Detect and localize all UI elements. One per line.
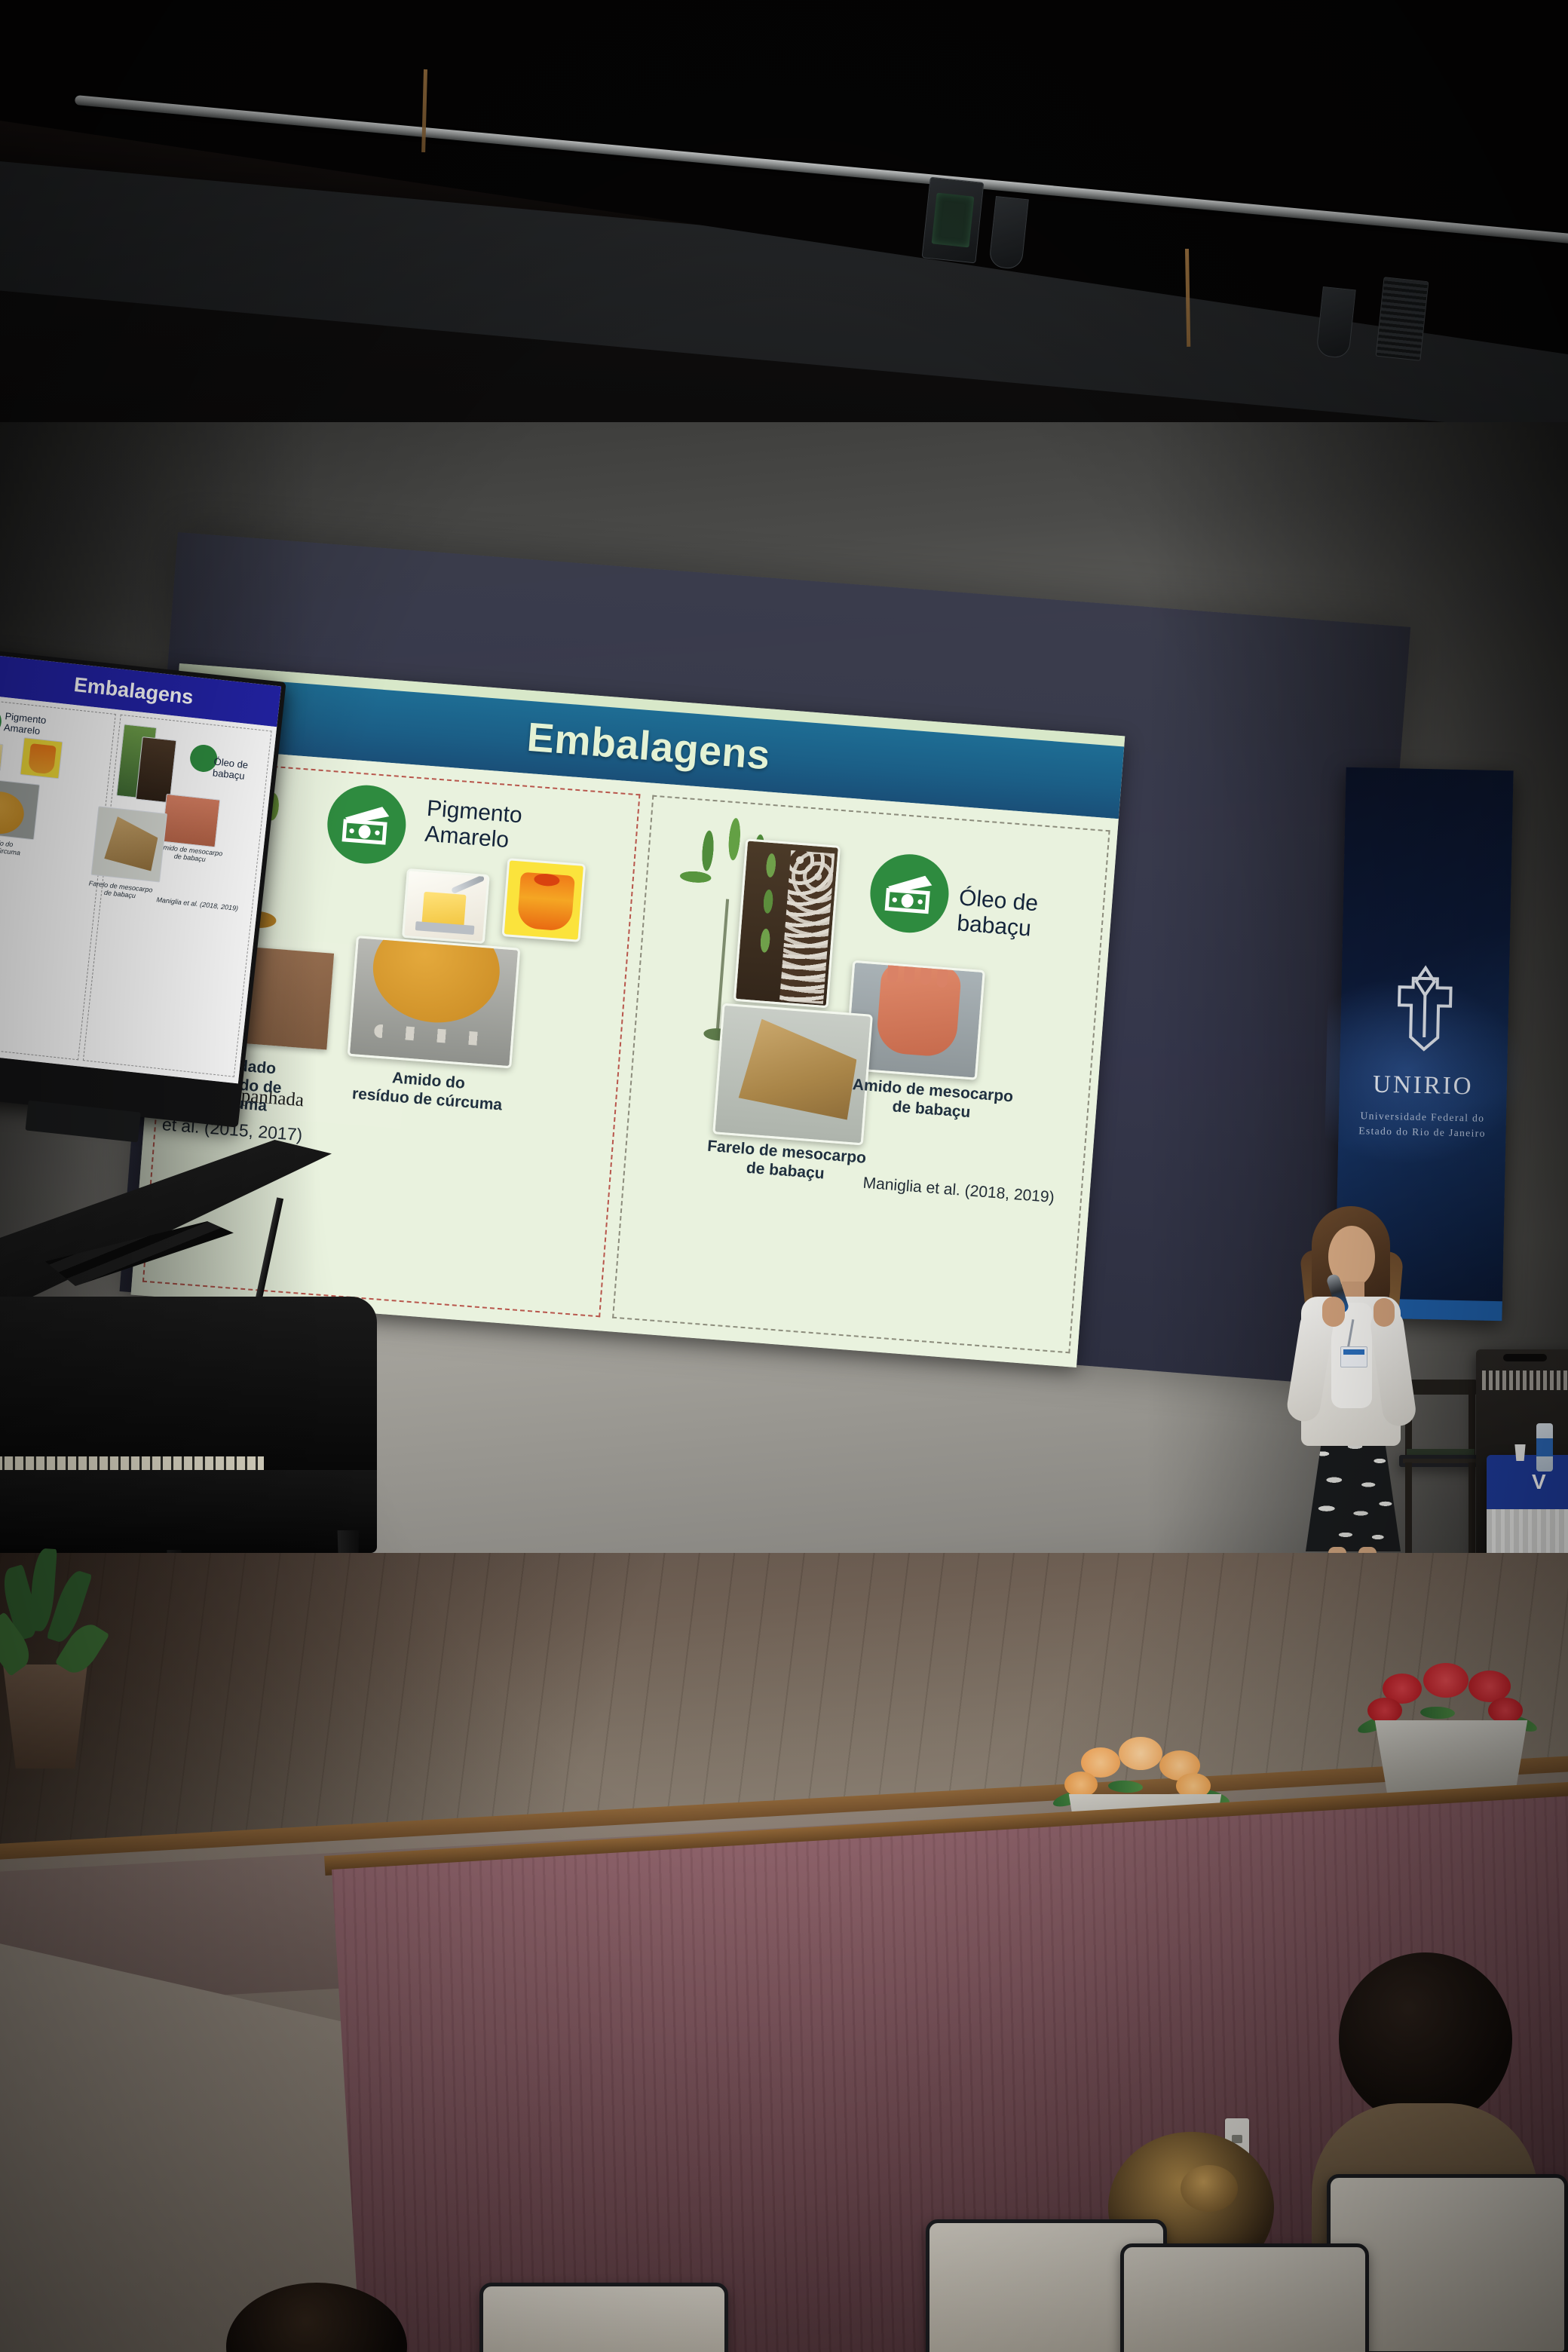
slide-right-panel: Óleo de babaçu Amido de mesocarpo de bab… xyxy=(612,795,1110,1354)
stage-light-lens xyxy=(931,193,974,248)
potted-plant-left xyxy=(0,1553,151,1772)
citation-right: Maniglia et al. (2018, 2019) xyxy=(862,1174,1055,1207)
money-banknote-icon-right xyxy=(868,851,952,936)
banknote-glyph-2 xyxy=(881,870,937,917)
pigmento-label: Pigmento Amarelo xyxy=(424,796,586,859)
audience-seat-4[interactable] xyxy=(479,2283,728,2352)
fern-frond-r3 xyxy=(1420,1706,1456,1720)
presenter-skirt xyxy=(1306,1432,1401,1551)
side-table-logo: V xyxy=(1532,1470,1547,1494)
amp-handle xyxy=(1503,1354,1547,1361)
slide-title: Embalagens xyxy=(525,714,772,779)
audience-seat-3[interactable] xyxy=(1120,2243,1369,2352)
piano-lid xyxy=(0,1140,332,1313)
orange-bloom-4 xyxy=(1064,1772,1098,1797)
red-bloom-2 xyxy=(1423,1663,1468,1698)
bottle-label xyxy=(1536,1438,1553,1456)
stage-light-barndoor xyxy=(1376,277,1429,361)
red-bloom-5 xyxy=(1488,1698,1523,1723)
water-bottle xyxy=(1536,1423,1553,1472)
audience-bun-2 xyxy=(1181,2165,1238,2212)
monitor-slide-title: Embalagens xyxy=(73,672,194,709)
banner-name: UNIRIO xyxy=(1339,1070,1507,1102)
babassu-fruit-cluster-photo xyxy=(733,838,841,1008)
oleo-label: Óleo de babaçu xyxy=(956,885,1103,947)
fern-frond-o3 xyxy=(1108,1780,1144,1793)
monitor-display: Embalagens Pigmento Amarelo Amid xyxy=(0,655,281,1084)
presenter-name-badge xyxy=(1340,1346,1367,1367)
monitor-oleo-label: Óleo de babaçu xyxy=(212,756,249,782)
presenter-hand-right xyxy=(1374,1298,1395,1327)
presenter xyxy=(1295,1206,1446,1598)
butter-pat-photo xyxy=(402,868,490,944)
confidence-monitor[interactable]: Embalagens Pigmento Amarelo Amid xyxy=(0,650,286,1128)
hanging-stage-light-1 xyxy=(922,177,985,264)
monitor-pudding-photo xyxy=(20,737,63,779)
monitor-fruit-photo xyxy=(136,737,177,803)
orange-bloom-2 xyxy=(1119,1737,1162,1770)
monitor-hand-photo xyxy=(161,794,220,847)
piano-keyboard xyxy=(0,1456,264,1472)
audience-person-3 xyxy=(226,2283,422,2352)
starch-disc-photo xyxy=(348,936,521,1068)
money-banknote-icon-left xyxy=(325,782,409,867)
plant-pot xyxy=(0,1664,98,1769)
monitor-starch-disc-photo xyxy=(0,776,40,840)
audience-head-3 xyxy=(226,2283,407,2352)
piano-keybed xyxy=(0,1470,377,1553)
auditorium-scene: Embalagens xyxy=(0,0,1568,2352)
piano-body xyxy=(0,1297,377,1478)
monitor-pigmento-label: Pigmento Amarelo xyxy=(3,711,47,738)
caption-amido-mesocarpo: Amido de mesocarpo de babaçu xyxy=(844,1075,1020,1126)
banknote-glyph xyxy=(338,801,394,848)
audience-head-1 xyxy=(1339,1952,1512,2126)
red-bloom-4 xyxy=(1367,1698,1402,1723)
orange-pudding-photo xyxy=(501,858,586,942)
monitor-slide-body: Pigmento Amarelo Amido do uo de cúrcuma xyxy=(0,695,277,1083)
amp-grille xyxy=(1482,1370,1568,1390)
banner-subtitle: Universidade Federal do Estado do Rio de… xyxy=(1338,1108,1506,1142)
unirio-trident-logo-icon xyxy=(1389,964,1461,1061)
monitor-film-photo xyxy=(91,806,167,882)
presenter-hand-left xyxy=(1322,1297,1345,1327)
